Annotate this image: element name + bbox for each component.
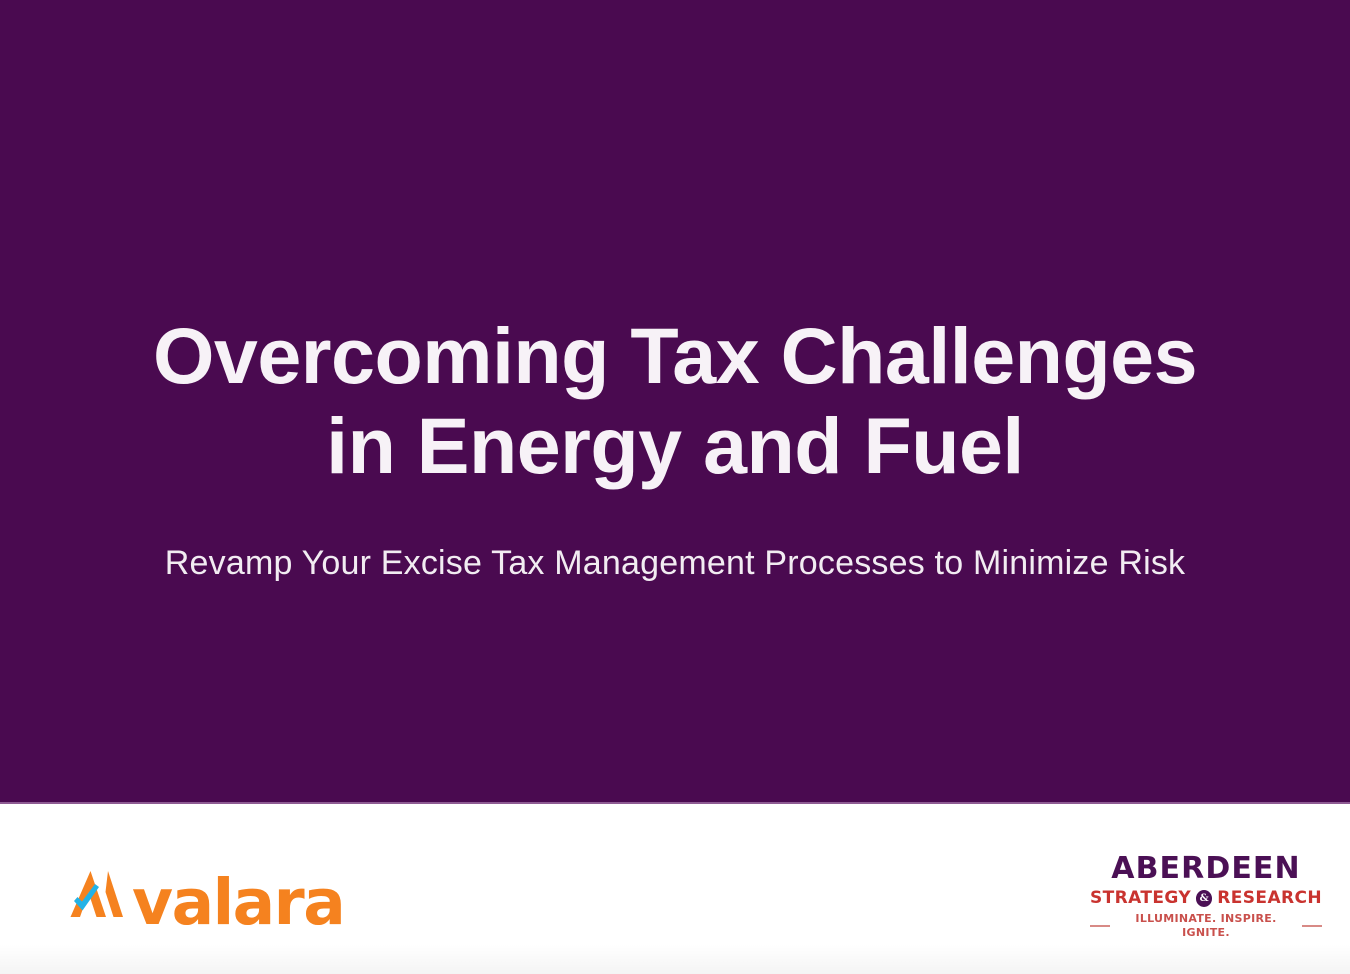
aberdeen-tagline-text: ILLUMINATE. INSPIRE. IGNITE. — [1117, 912, 1295, 940]
avalara-wordmark: valara — [132, 871, 344, 934]
tagline-rule-left-icon — [1090, 925, 1110, 927]
aberdeen-wordmark: ABERDEEN — [1090, 852, 1322, 885]
presentation-slide: Overcoming Tax Challenges in Energy and … — [0, 0, 1350, 974]
tagline-rule-right-icon — [1302, 925, 1322, 927]
aberdeen-logo[interactable]: ABERDEEN STRATEGY & RESEARCH ILLUMINATE.… — [1090, 852, 1322, 940]
page-subtitle: Revamp Your Excise Tax Management Proces… — [95, 491, 1255, 583]
aberdeen-research-label: RESEARCH — [1217, 888, 1322, 908]
avalara-logo[interactable]: valara — [58, 861, 344, 935]
aberdeen-tagline-secondary: ILLUMINATE. INSPIRE. IGNITE. — [1090, 912, 1322, 940]
aberdeen-strategy-label: STRATEGY — [1090, 888, 1191, 908]
hero-content: Overcoming Tax Challenges in Energy and … — [0, 0, 1350, 802]
footer-shadow — [0, 944, 1350, 974]
page-title: Overcoming Tax Challenges in Energy and … — [95, 311, 1255, 491]
aberdeen-tagline-primary: STRATEGY & RESEARCH — [1090, 888, 1322, 908]
avalara-a-checkmark-icon — [58, 865, 130, 931]
ampersand-badge-icon: & — [1196, 890, 1212, 907]
